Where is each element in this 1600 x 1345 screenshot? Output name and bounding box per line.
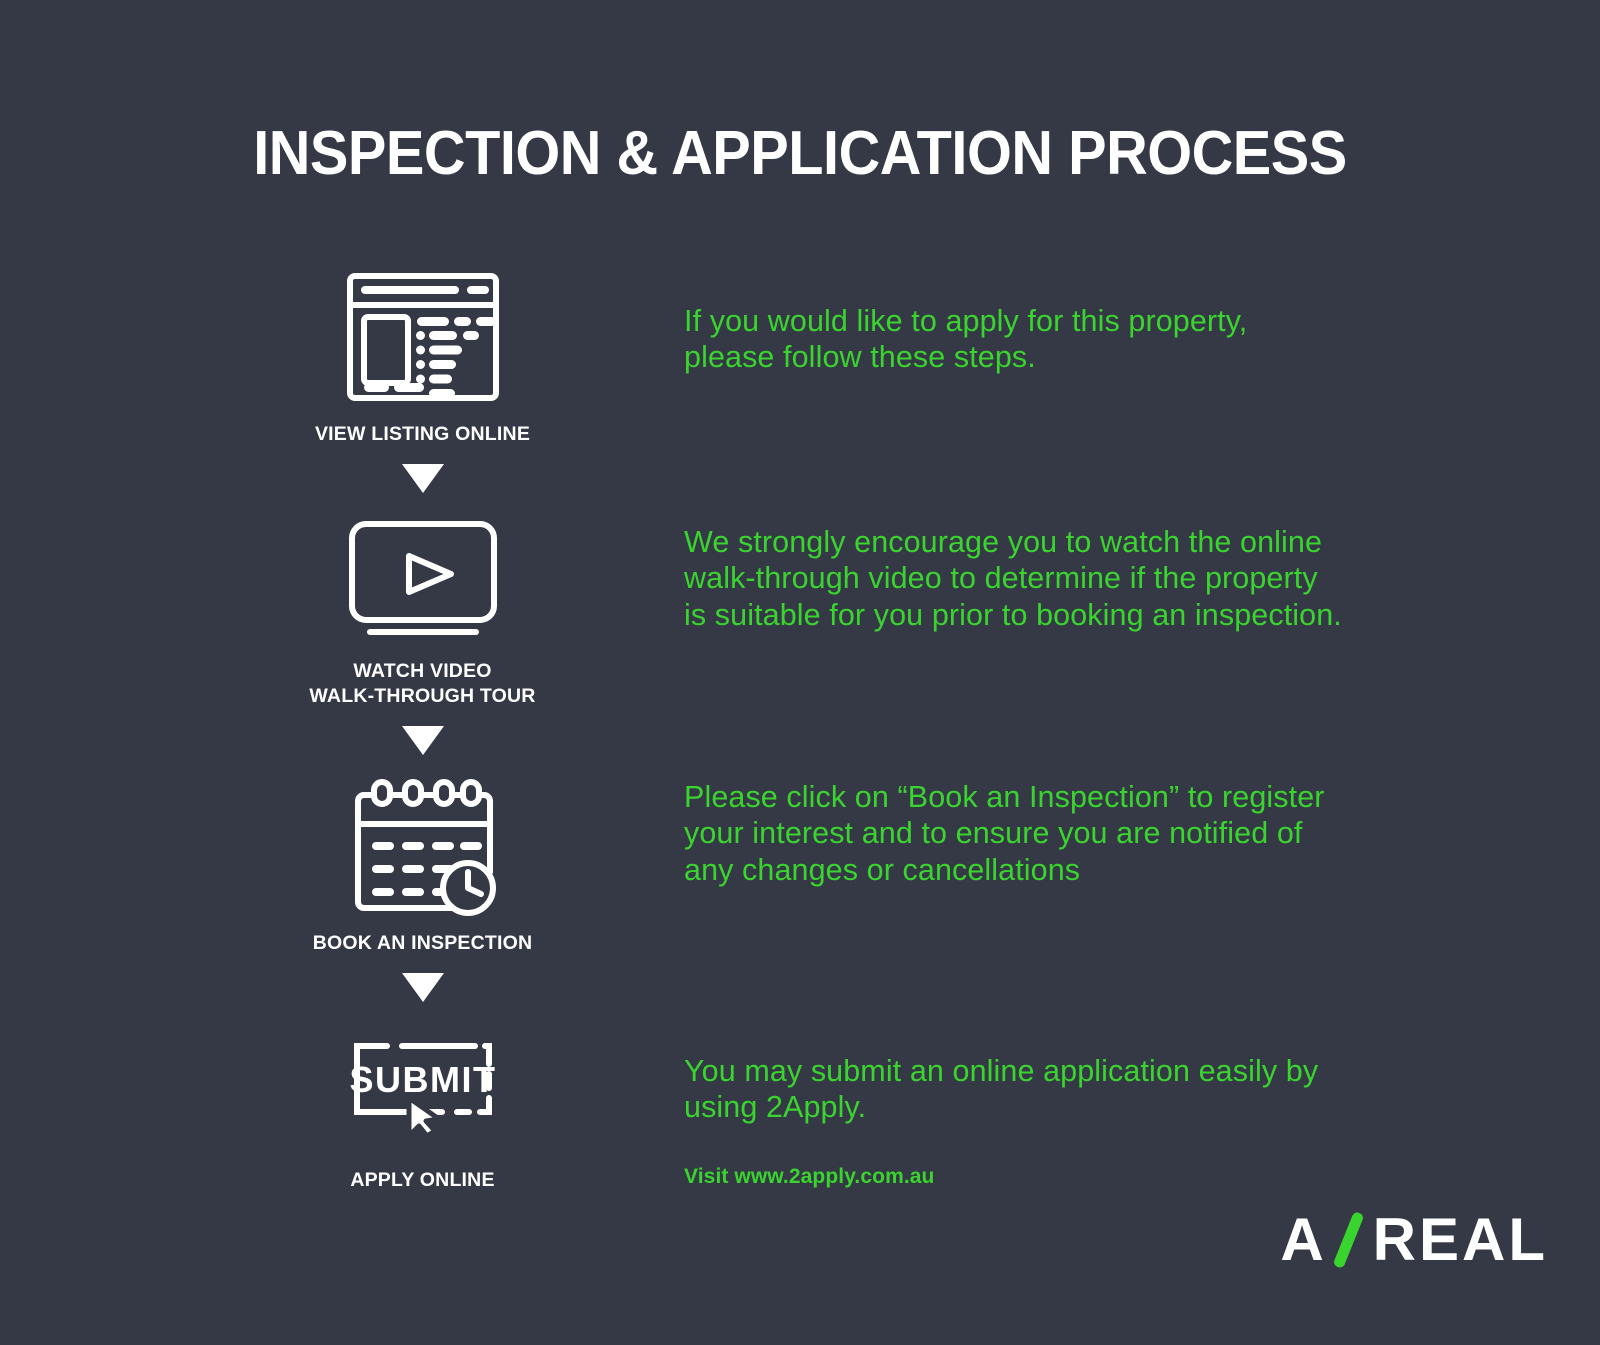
arrow-down-triangle-icon: [402, 464, 444, 493]
steps-column: VIEW LISTING ONLINE WATCH VIDEO WALK-THR…: [300, 262, 545, 1194]
submit-button-cursor-icon: SUBMIT: [300, 1018, 545, 1158]
infographic-page: INSPECTION & APPLICATION PROCESS: [0, 0, 1600, 1345]
step-label: APPLY ONLINE: [300, 1168, 545, 1194]
arrow-down-triangle-icon: [402, 726, 444, 755]
blurb-apply-online: You may submit an online application eas…: [684, 1053, 1384, 1126]
listing-window-icon: [300, 262, 545, 412]
step-label: BOOK AN INSPECTION: [300, 931, 545, 957]
calendar-clock-icon: [300, 771, 545, 921]
blurb-book-inspection: Please click on “Book an Inspection” to …: [684, 779, 1404, 888]
video-play-screen-icon: [300, 509, 545, 649]
blurb-intro: If you would like to apply for this prop…: [684, 303, 1247, 376]
step-book-inspection[interactable]: BOOK AN INSPECTION: [300, 771, 545, 957]
step-label: WATCH VIDEO WALK-THROUGH TOUR: [300, 659, 545, 710]
brand-logo: A REAL: [1280, 1208, 1548, 1272]
arrow-down-triangle-icon: [402, 973, 444, 1002]
submit-icon-text: SUBMIT: [349, 1059, 496, 1100]
blurb-watch-video: We strongly encourage you to watch the o…: [684, 524, 1424, 633]
page-title: INSPECTION & APPLICATION PROCESS: [56, 118, 1544, 189]
step-apply-online[interactable]: SUBMIT APPLY ONLINE: [300, 1018, 545, 1194]
visit-url-link[interactable]: Visit www.2apply.com.au: [684, 1165, 935, 1189]
logo-word-real: REAL: [1373, 1210, 1548, 1270]
logo-letter-a: A: [1280, 1210, 1326, 1270]
step-view-listing-online[interactable]: VIEW LISTING ONLINE: [300, 262, 545, 448]
step-label: VIEW LISTING ONLINE: [300, 422, 545, 448]
step-watch-video[interactable]: WATCH VIDEO WALK-THROUGH TOUR: [300, 509, 545, 710]
slash-icon: [1329, 1209, 1371, 1271]
